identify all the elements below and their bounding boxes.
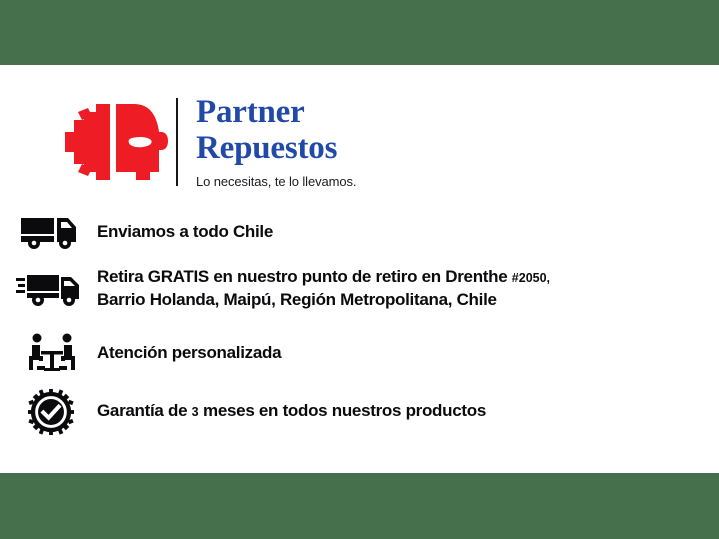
moving-truck-icon xyxy=(16,272,82,308)
feature-list: Enviamos a todo Chile xyxy=(0,206,719,444)
bottom-green-band xyxy=(0,473,719,539)
feature-text-warranty: Garantía de 3 meses en todos nuestros pr… xyxy=(97,400,486,423)
pickup-address-number: #2050, xyxy=(512,271,550,285)
brand-name-line-2: Repuestos xyxy=(196,132,356,165)
brand-header: Partner Repuestos Lo necesitas, te lo ll… xyxy=(58,92,356,192)
promo-banner: Partner Repuestos Lo necesitas, te lo ll… xyxy=(0,0,719,539)
feature-row-pickup: Retira GRATIS en nuestro punto de retiro… xyxy=(0,262,719,326)
feature-row-attention: Atención personalizada xyxy=(0,326,719,384)
brand-wordmark: Partner Repuestos Lo necesitas, te lo ll… xyxy=(196,96,356,189)
pickup-line1-main: Retira GRATIS en nuestro punto de retiro… xyxy=(97,267,512,286)
feature-text-pickup: Retira GRATIS en nuestro punto de retiro… xyxy=(97,266,657,311)
feature-text-pickup-line1: Retira GRATIS en nuestro punto de retiro… xyxy=(97,267,550,286)
warranty-months-number: 3 xyxy=(192,405,199,419)
brand-tagline: Lo necesitas, te lo llevamos. xyxy=(196,174,356,189)
gear-car-logo xyxy=(58,98,170,186)
feature-row-warranty: Garantía de 3 meses en todos nuestros pr… xyxy=(0,384,719,444)
feature-text-pickup-line2: Barrio Holanda, Maipú, Región Metropolit… xyxy=(97,290,497,309)
warranty-text-before: Garantía de xyxy=(97,401,192,420)
check-badge-icon xyxy=(26,388,76,436)
warranty-text-after: meses en todos nuestros productos xyxy=(199,401,486,420)
top-green-band xyxy=(0,0,719,65)
delivery-truck-icon xyxy=(20,216,78,250)
feature-text-attention: Atención personalizada xyxy=(97,342,281,364)
people-at-table-icon xyxy=(26,332,78,374)
brand-name-line-1: Partner xyxy=(196,96,356,129)
feature-row-shipping: Enviamos a todo Chile xyxy=(0,206,719,262)
feature-text-shipping: Enviamos a todo Chile xyxy=(97,221,273,243)
brand-divider xyxy=(176,98,178,186)
